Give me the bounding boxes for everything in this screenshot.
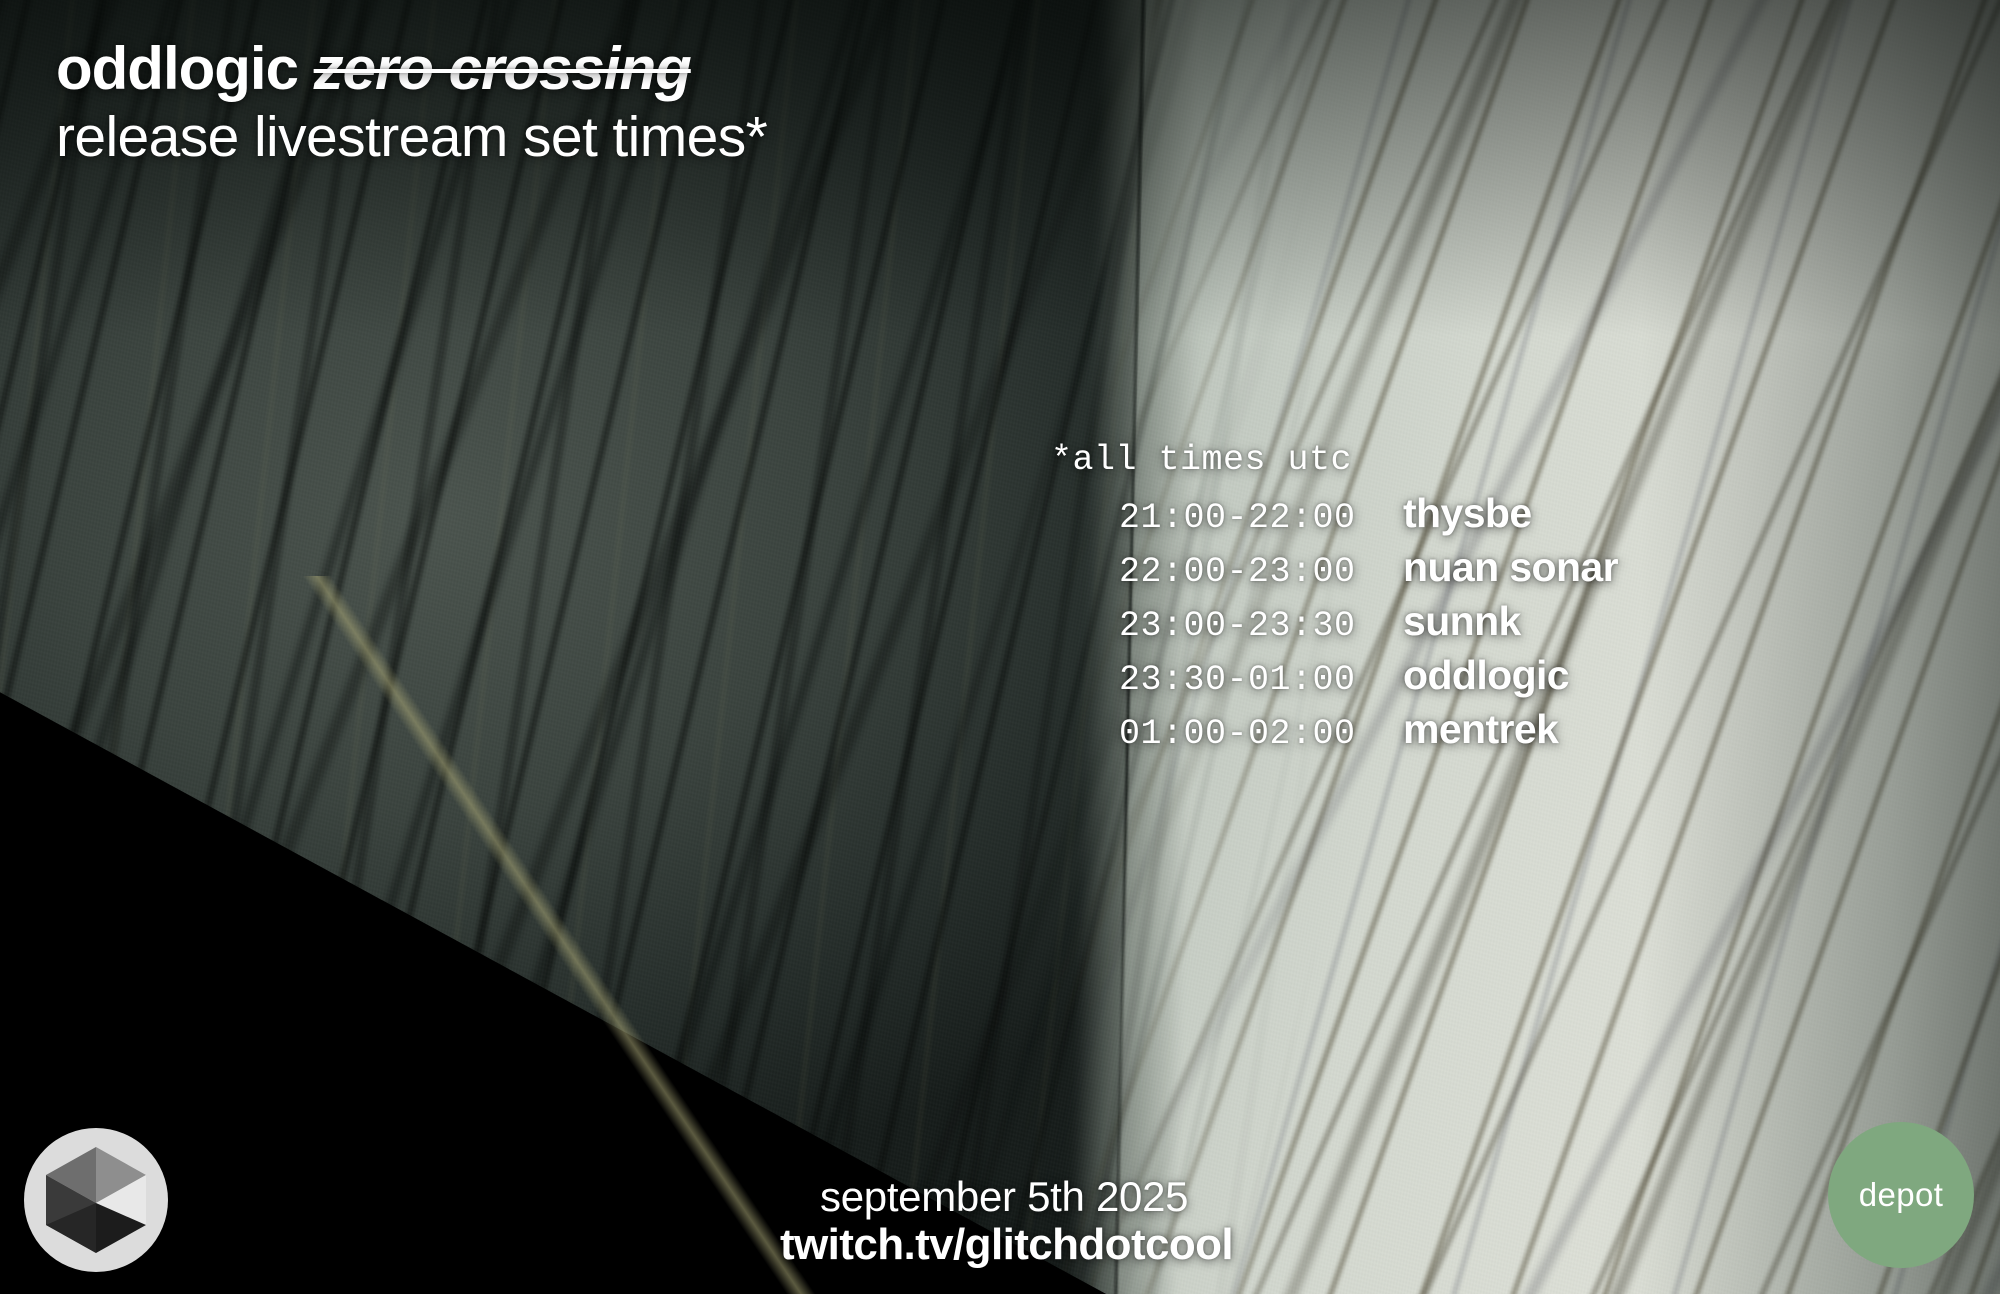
- slot-artist: sunnk: [1403, 598, 1521, 645]
- slot-artist: oddlogic: [1403, 652, 1569, 699]
- event-date: september 5th 2025: [780, 1173, 1233, 1220]
- stream-link[interactable]: twitch.tv/glitchdotcool: [780, 1220, 1233, 1270]
- schedule-row: 23:30-01:00 oddlogic: [1045, 652, 1618, 700]
- schedule-row: 21:00-22:00 thysbe: [1045, 490, 1618, 538]
- depot-badge[interactable]: depot: [1828, 1122, 1974, 1268]
- slot-time: 01:00-02:00: [1045, 714, 1355, 754]
- slot-artist: thysbe: [1403, 490, 1532, 537]
- schedule-row: 23:00-23:30 sunnk: [1045, 598, 1618, 646]
- slot-time: 22:00-23:00: [1045, 552, 1355, 592]
- headline-block: oddlogic zero crossing release livestrea…: [56, 38, 767, 166]
- footer-block: september 5th 2025 twitch.tv/glitchdotco…: [780, 1173, 1233, 1270]
- slot-time: 23:00-23:30: [1045, 606, 1355, 646]
- slot-artist: mentrek: [1403, 706, 1558, 753]
- depot-label: depot: [1859, 1176, 1944, 1214]
- schedule-row: 22:00-23:00 nuan sonar: [1045, 544, 1618, 592]
- slot-artist: nuan sonar: [1403, 544, 1618, 591]
- cube-icon: [44, 1145, 148, 1255]
- schedule-row: 01:00-02:00 mentrek: [1045, 706, 1618, 754]
- slot-time: 23:30-01:00: [1045, 660, 1355, 700]
- cube-logo: [24, 1128, 168, 1272]
- poster-canvas: oddlogic zero crossing release livestrea…: [0, 0, 2000, 1294]
- background-photo: [0, 0, 2000, 1294]
- album-title: zero crossing: [314, 35, 691, 102]
- schedule-block: *all times utc 21:00-22:00 thysbe 22:00-…: [1045, 440, 1618, 754]
- slot-time: 21:00-22:00: [1045, 498, 1355, 538]
- utc-note: *all times utc: [1045, 440, 1618, 480]
- artist-name: oddlogic: [56, 35, 298, 102]
- headline-subtitle: release livestream set times*: [56, 108, 767, 166]
- headline-space: [298, 35, 314, 102]
- headline-line-1: oddlogic zero crossing: [56, 38, 767, 99]
